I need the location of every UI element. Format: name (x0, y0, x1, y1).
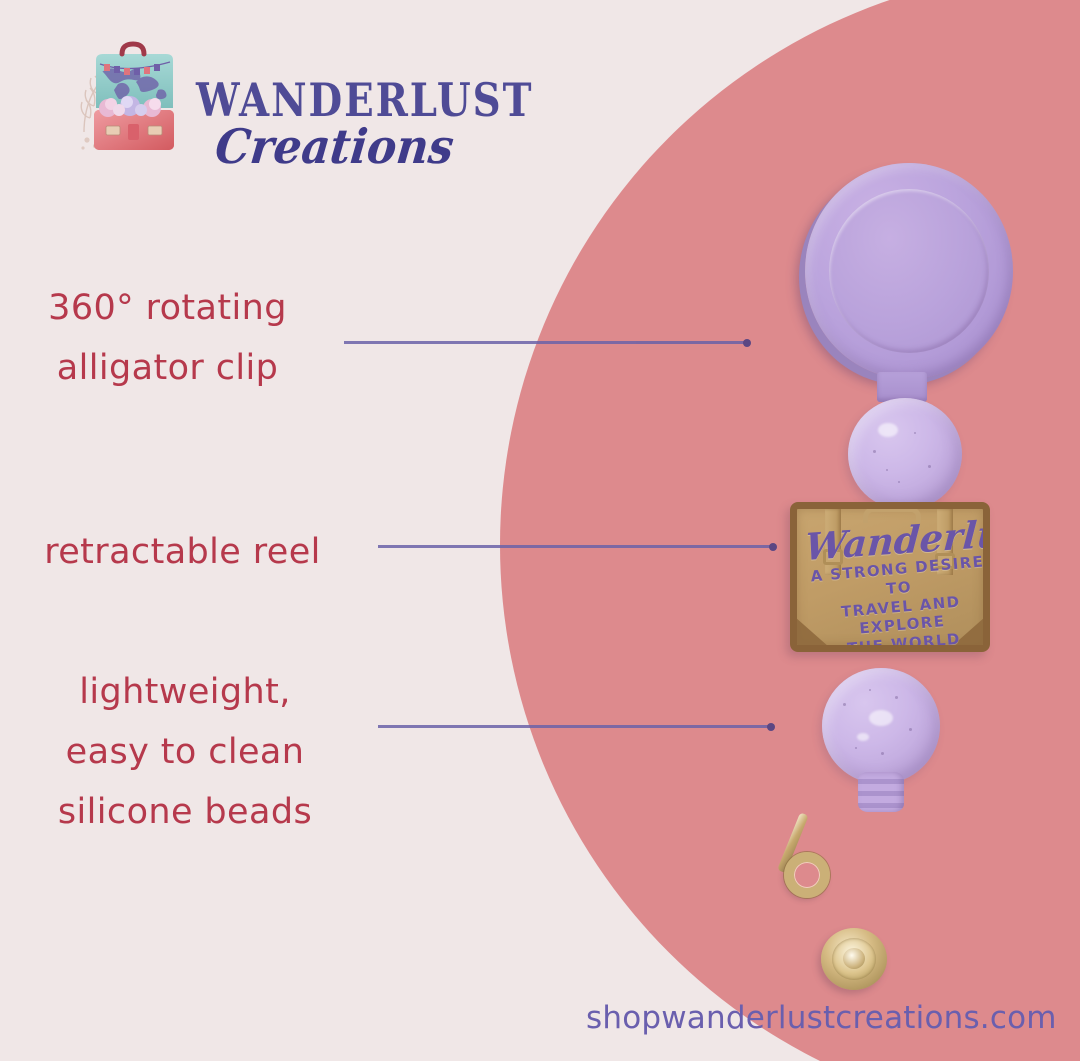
bead-speckle (843, 703, 846, 706)
bead-speckle (928, 465, 931, 468)
website-url[interactable]: shopwanderlustcreations.com (586, 1000, 1057, 1036)
bead-speckle (914, 432, 916, 434)
retractable-reel-disc (805, 163, 1013, 379)
metal-snap-center (843, 948, 865, 969)
upper-silicone-bead (848, 398, 962, 510)
leader-line-retractable-reel (378, 545, 774, 548)
charm-subtitle-text: A STRONG DESIRE TO TRAVEL AND EXPLORE TH… (805, 552, 990, 652)
bead-speckle (881, 752, 884, 755)
bead-highlight (857, 733, 869, 741)
bead-highlight (869, 710, 893, 726)
swivel-clasp-ring (784, 852, 830, 898)
bead-speckle (898, 481, 900, 483)
bead-speckle (886, 469, 888, 471)
reel-inner-ring (829, 189, 989, 353)
bead-speckle (909, 728, 912, 731)
lower-silicone-bead (822, 668, 940, 784)
charm-engraving: Wanderlust A STRONG DESIRE TO TRAVEL AND… (805, 531, 989, 652)
bead-speckle (855, 747, 857, 749)
feature-label-silicone-beads: lightweight, easy to clean silicone bead… (10, 662, 360, 843)
logo-text-wanderlust: WANDERLUST (196, 78, 477, 124)
feature-label-rotating-clip: 360° rotating alligator clip (10, 278, 325, 398)
suitcase-logo-icon (78, 34, 188, 159)
metal-snap-inner (832, 938, 876, 980)
product-photo-badge-reel: Wanderlust A STRONG DESIRE TO TRAVEL AND… (760, 150, 1030, 1030)
suitcase-charm: Wanderlust A STRONG DESIRE TO TRAVEL AND… (790, 502, 990, 652)
feature-label-retractable-reel: retractable reel (10, 522, 355, 582)
leader-line-rotating-clip (344, 341, 748, 344)
bead-speckle (895, 696, 898, 699)
product-feature-graphic: WANDERLUST Creations 360° rotating allig… (0, 0, 1080, 1061)
logo-text-creations: Creations (213, 124, 486, 172)
logo-wordmark: WANDERLUST Creations (196, 78, 486, 168)
bead-highlight (878, 423, 898, 437)
bead-ribbed-neck (858, 772, 904, 812)
metal-snap (821, 928, 887, 990)
leader-dot (743, 339, 751, 347)
leader-line-silicone-beads (378, 725, 772, 728)
bead-speckle (869, 689, 871, 691)
brand-logo: WANDERLUST Creations (78, 34, 478, 174)
bead-speckle (873, 450, 876, 453)
